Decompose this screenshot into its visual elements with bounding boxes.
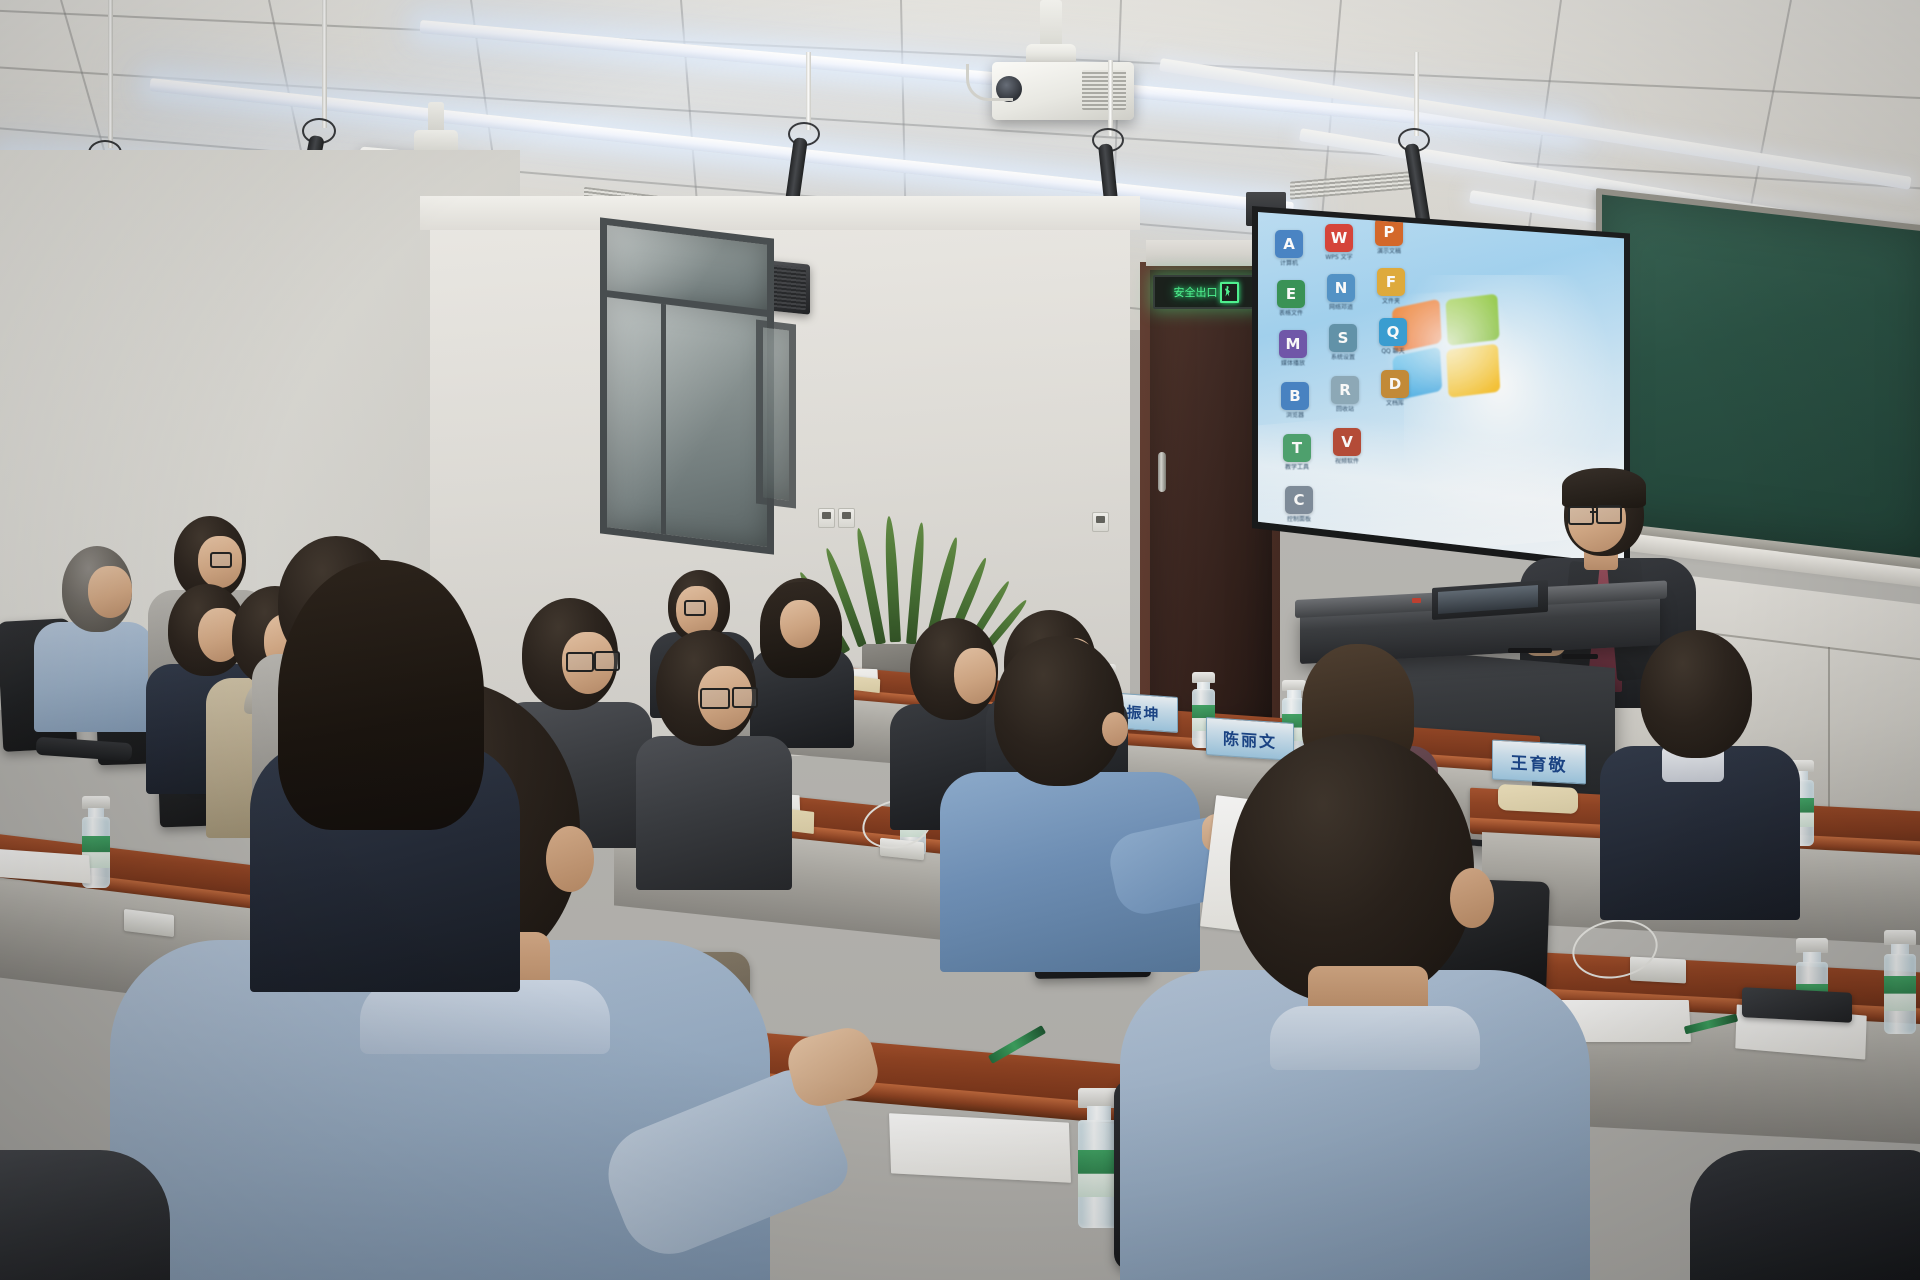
desktop-icon[interactable]: S 系统设置 xyxy=(1320,324,1366,361)
desktop-icon[interactable]: E 表格文件 xyxy=(1268,280,1314,317)
desktop-icon[interactable]: N 网络邓道 xyxy=(1318,274,1364,311)
attendee-torso xyxy=(0,1150,170,1280)
desktop-icon-glyph: C xyxy=(1285,486,1313,514)
presenter-glasses xyxy=(1596,505,1622,524)
projector-vent-grill xyxy=(1082,70,1126,110)
glasses-bridge xyxy=(1590,511,1597,513)
desktop-icon-label: 计算机 xyxy=(1266,260,1312,267)
desktop-icon-glyph: T xyxy=(1283,434,1311,462)
exit-sign-text-left: 安全出口 xyxy=(1174,287,1218,298)
speaker-suspension-wire xyxy=(108,0,113,148)
window-glass-panel xyxy=(600,289,774,554)
desktop-icon-label: WPS 文字 xyxy=(1316,254,1362,261)
desktop-icon[interactable]: Q QQ 聊天 xyxy=(1370,318,1416,355)
desktop-icon-label: 演示文稿 xyxy=(1366,248,1412,255)
wall-outlet[interactable] xyxy=(1092,512,1109,532)
desktop-icon[interactable]: M 媒体播放 xyxy=(1270,330,1316,367)
desktop-icon-label: 回收站 xyxy=(1322,406,1368,413)
desktop-icon-glyph: B xyxy=(1281,382,1309,410)
attendee-head xyxy=(1640,630,1752,758)
desktop-icon[interactable]: C 控制面板 xyxy=(1276,486,1322,523)
desktop-icon[interactable]: P 演示文稿 xyxy=(1366,218,1412,255)
podium-power-button[interactable] xyxy=(1412,598,1421,603)
desktop-icon-glyph: Q xyxy=(1379,318,1407,346)
desktop-icon-label: 表格文件 xyxy=(1268,310,1314,317)
attendee-torso xyxy=(1690,1150,1920,1280)
desktop-icon-label: 文件夹 xyxy=(1368,298,1414,305)
lecture-hall-photo: 安全出口 A 计算机 W WPS 文字 xyxy=(0,0,1920,1280)
projector-cable xyxy=(966,64,1013,101)
desktop-icon[interactable]: T 教学工具 xyxy=(1274,434,1320,471)
desktop-icon[interactable]: V 视频软件 xyxy=(1324,428,1370,465)
desktop-icon-glyph: D xyxy=(1381,370,1409,398)
tablet-device[interactable] xyxy=(1742,987,1852,1023)
attendee-foreground-right xyxy=(1120,734,1640,1280)
desktop-icon-label: 控制面板 xyxy=(1276,516,1322,523)
desktop-icon-glyph: S xyxy=(1329,324,1357,352)
attendee-glasses xyxy=(594,651,620,671)
podium-drive-slot[interactable] xyxy=(1508,648,1552,653)
desktop-icon[interactable]: D 文档库 xyxy=(1372,370,1418,407)
attendee-bottom-right xyxy=(1690,1140,1920,1280)
attendee-bottom-left-edge xyxy=(0,1150,170,1280)
desktop-icon-label: QQ 聊天 xyxy=(1370,348,1416,355)
desktop-icon[interactable]: R 回收站 xyxy=(1322,376,1368,413)
speaker-suspension-wire xyxy=(1414,52,1419,136)
attendee-glasses xyxy=(566,652,594,672)
running-man-icon xyxy=(1220,282,1239,303)
desktop-icon-label: 媒体播放 xyxy=(1270,360,1316,367)
attendee-foreground-woman xyxy=(250,560,550,980)
desktop-icon-label: 网络邓道 xyxy=(1318,304,1364,311)
desktop-icon[interactable]: F 文件夹 xyxy=(1368,268,1414,305)
desktop-icon[interactable]: A 计算机 xyxy=(1266,230,1312,267)
attendee-ear xyxy=(1450,868,1494,928)
desktop-icon-glyph: E xyxy=(1277,280,1305,308)
window-side-panel xyxy=(756,320,796,509)
desktop-icon-glyph: A xyxy=(1275,230,1303,258)
speaker-suspension-wire xyxy=(1108,60,1113,136)
desktop-icon-label: 教学工具 xyxy=(1274,464,1320,471)
desktop-icon-glyph: W xyxy=(1325,224,1353,252)
speaker-suspension-wire xyxy=(806,52,811,130)
attendee-head xyxy=(994,636,1124,786)
desktop-icon-label: 文档库 xyxy=(1372,400,1418,407)
presenter-glasses xyxy=(1568,506,1594,525)
podium-drive-slot[interactable] xyxy=(1562,654,1598,659)
desktop-icon-glyph: V xyxy=(1333,428,1361,456)
desktop-icon-glyph: M xyxy=(1279,330,1307,358)
attendee-hair xyxy=(278,560,484,830)
desktop-icon-glyph: N xyxy=(1327,274,1355,302)
attendee-glasses xyxy=(210,552,232,568)
attendee-head xyxy=(1230,734,1474,1004)
desktop-icon-label: 浏览器 xyxy=(1272,412,1318,419)
attendee-ear xyxy=(546,826,594,892)
desktop-icon-label: 系统设置 xyxy=(1320,354,1366,361)
speaker-suspension-wire xyxy=(322,0,327,128)
attendee-face xyxy=(88,566,132,618)
desktop-icon[interactable]: W WPS 文字 xyxy=(1316,224,1362,261)
desktop-icon-glyph: F xyxy=(1377,268,1405,296)
desktop-icon-glyph: R xyxy=(1331,376,1359,404)
attendee-collar xyxy=(1270,1006,1480,1070)
desktop-icon[interactable]: B 浏览器 xyxy=(1272,382,1318,419)
desktop-icon-glyph: P xyxy=(1375,218,1403,246)
presenter-hair xyxy=(1562,468,1646,508)
water-bottle[interactable] xyxy=(1884,930,1916,1034)
emergency-exit-sign: 安全出口 xyxy=(1153,275,1259,309)
door-handle[interactable] xyxy=(1158,452,1166,492)
attendee-glasses xyxy=(684,600,706,616)
wall-soffit-band xyxy=(420,196,1140,230)
desktop-icon-label: 视频软件 xyxy=(1324,458,1370,465)
desk-papers xyxy=(889,1113,1071,1183)
